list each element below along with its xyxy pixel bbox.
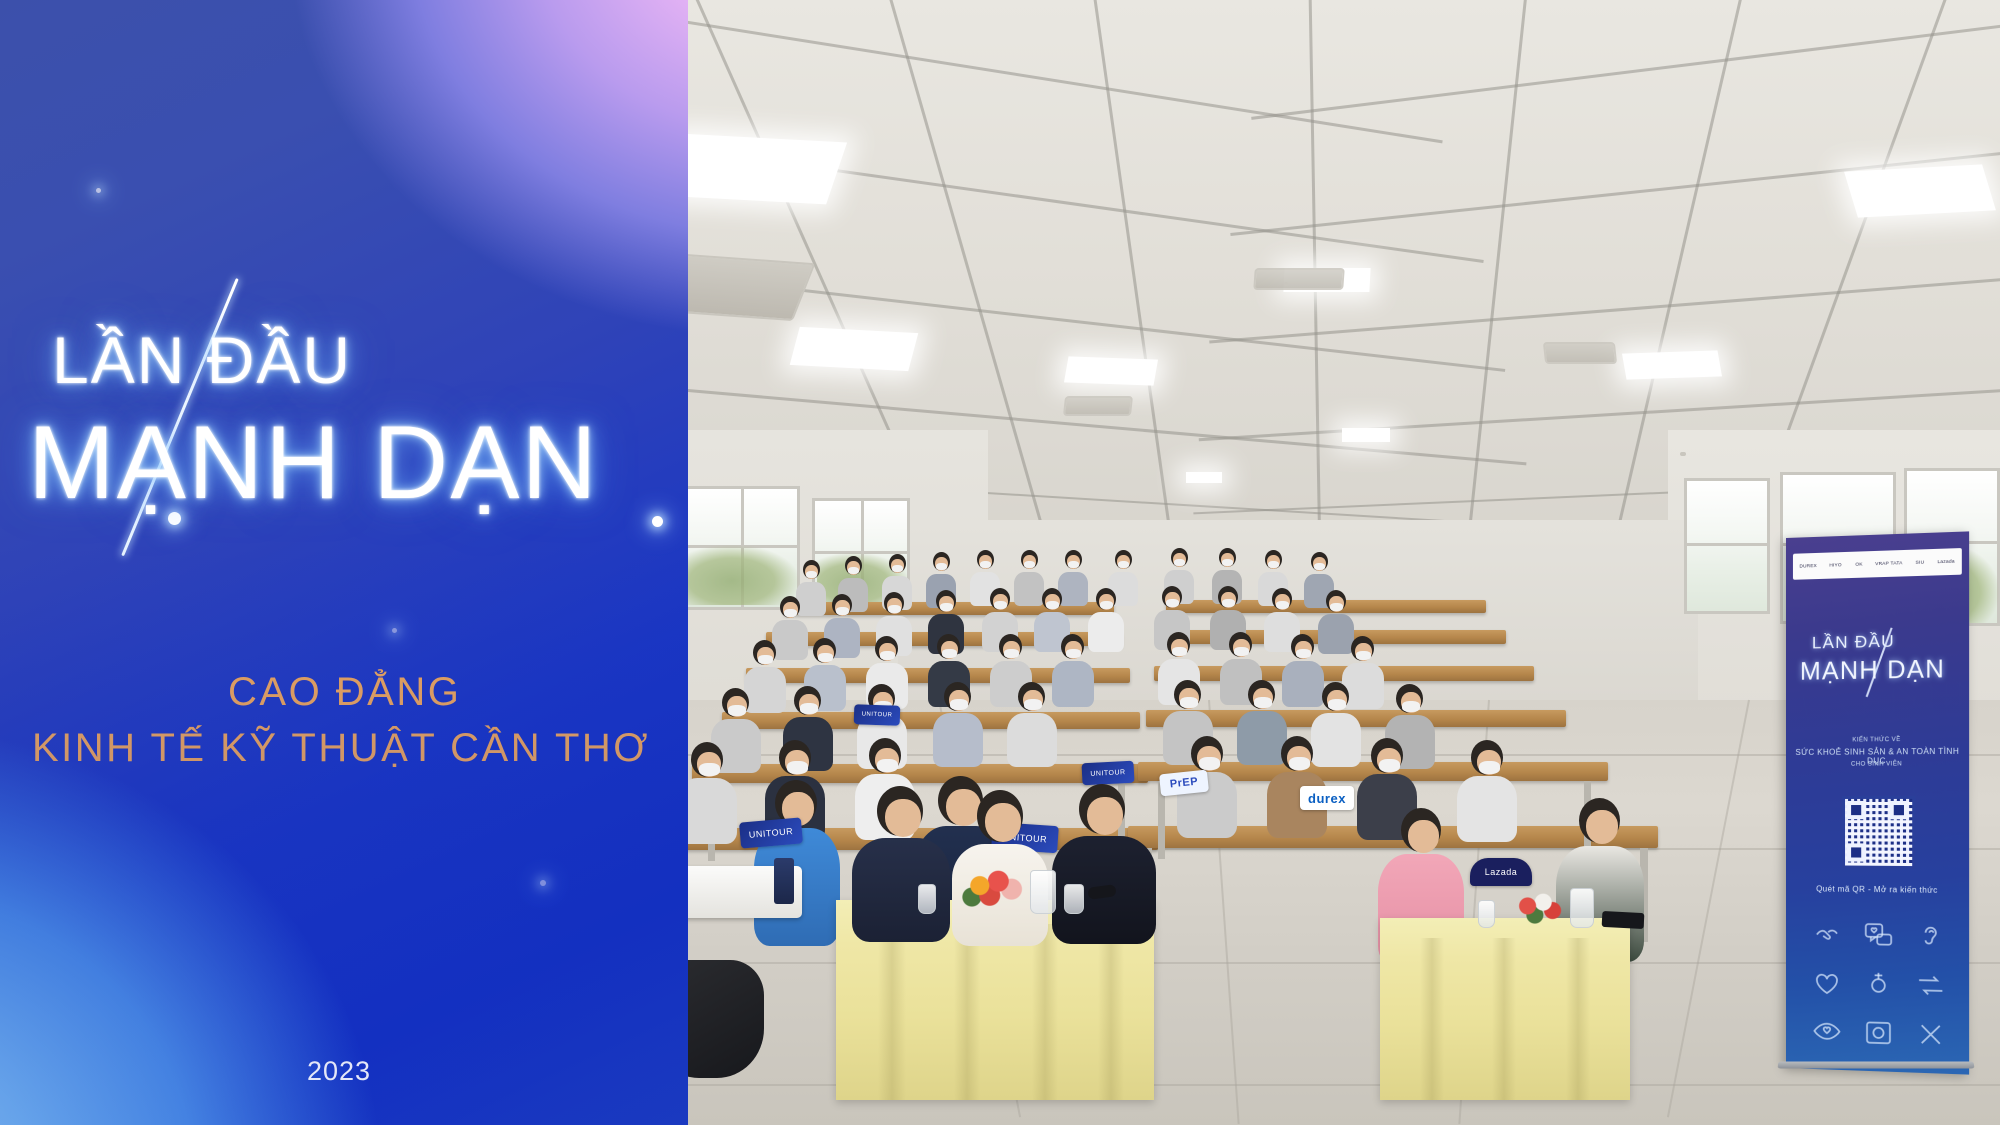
sponsor-logo-durex: DUREX xyxy=(1799,563,1817,569)
placard-label: UNITOUR xyxy=(748,826,793,840)
poster-canvas: LẦN ĐẦU MẠNH DẠN CAO ĐẲNG KINH TẾ KỸ THU… xyxy=(0,0,2000,1125)
ear-icon xyxy=(1906,914,1954,960)
standee-headline-2: MẠNH DẠN xyxy=(1800,655,1945,687)
sponsor-logo-hiyo: HIYO xyxy=(1830,562,1842,568)
placard-lazada: Lazada xyxy=(1470,858,1532,886)
ceiling-light-panel xyxy=(688,134,847,205)
standee-base xyxy=(1777,1062,1974,1069)
sparkle-dot xyxy=(540,880,546,886)
org-line-1: CAO ĐẲNG xyxy=(228,670,461,715)
chat-heart-icon xyxy=(1855,913,1903,958)
close-icon xyxy=(1906,1011,1954,1057)
flower-bouquet xyxy=(1512,890,1564,928)
ceiling-light-panel xyxy=(1186,472,1222,483)
placard-unitour: UNITOUR xyxy=(854,704,901,726)
placard-label: UNITOUR xyxy=(862,711,893,718)
heart-hand-icon xyxy=(1804,960,1851,1005)
sponsor-logo-lazada: Lazada xyxy=(1938,559,1955,565)
placard-label: Lazada xyxy=(1485,867,1518,877)
head-table-right xyxy=(1380,918,1630,1100)
glass-pitcher xyxy=(1570,888,1594,928)
qr-code xyxy=(1842,796,1915,869)
student-desk xyxy=(692,764,1148,783)
sponsor-logo-strip: DUREX HIYO OK VRAP TATA SIU Lazada xyxy=(1793,548,1962,580)
wall-louvre-vent xyxy=(1680,452,1686,456)
ceiling-light-panel xyxy=(790,327,919,371)
window xyxy=(1684,478,1770,614)
holding-hands-icon xyxy=(1804,912,1851,957)
standee-subline-3: CHO SINH VIÊN xyxy=(1786,761,1969,768)
placard-label: PrEP xyxy=(1169,776,1198,791)
sponsor-logo-siu: SIU xyxy=(1916,560,1925,566)
backpack xyxy=(688,960,764,1078)
sparkle-dot xyxy=(652,516,663,527)
glass-pitcher xyxy=(1030,870,1056,914)
drinking-glass xyxy=(1478,900,1495,928)
ceiling-air-vent xyxy=(1253,268,1345,290)
ceiling-light-panel xyxy=(1342,428,1390,442)
placard-label: UNITOUR xyxy=(1090,769,1126,778)
ceiling-light-panel xyxy=(1622,350,1722,379)
condom-icon xyxy=(1855,1010,1903,1056)
left-gradient-panel: LẦN ĐẦU MẠNH DẠN CAO ĐẲNG KINH TẾ KỸ THU… xyxy=(0,0,688,1125)
gender-symbol-icon xyxy=(1855,961,1903,1007)
drinking-glass xyxy=(1064,884,1084,914)
ceiling-air-vent xyxy=(1284,282,1288,286)
org-line-2: KINH TẾ KỸ THUẬT CẦN THƠ xyxy=(32,726,650,771)
event-photo: UNITOUR UNITOUR UNITOUR UNITOUR durex Pr… xyxy=(688,0,2000,1125)
sparkle-dot xyxy=(392,628,397,633)
rollup-banner-standee: DUREX HIYO OK VRAP TATA SIU Lazada LẦN Đ… xyxy=(1786,531,1969,1074)
water-bottle xyxy=(774,858,794,904)
sparkle-dot xyxy=(96,188,101,193)
flower-bouquet xyxy=(960,868,1026,912)
placard-durex: durex xyxy=(1300,786,1354,810)
standee-subline-1: KIẾN THỨC VỀ xyxy=(1786,736,1969,744)
eye-heart-icon xyxy=(1804,1009,1851,1055)
sponsor-logo-vrap: VRAP TATA xyxy=(1875,560,1902,567)
ceiling-air-vent xyxy=(688,253,816,321)
ceiling-air-vent xyxy=(1063,396,1133,416)
window xyxy=(688,486,800,610)
qr-caption: Quét mã QR - Mở ra kiến thức xyxy=(1786,884,1969,895)
headline-line-1: LẦN ĐẦU xyxy=(52,322,352,398)
ceiling-light-panel xyxy=(1064,356,1158,385)
placard-unitour: UNITOUR xyxy=(1081,761,1134,786)
sponsor-logo-ok: OK xyxy=(1855,562,1862,568)
placard-label: durex xyxy=(1308,791,1346,806)
drinking-glass xyxy=(918,884,936,914)
arrows-icon xyxy=(1906,963,1954,1009)
standee-icon-grid xyxy=(1804,912,1955,1057)
smartphone xyxy=(1602,911,1645,929)
placard-unitour: UNITOUR xyxy=(739,817,803,848)
ceiling-air-vent xyxy=(1543,342,1617,364)
headline-line-2: MẠNH DẠN xyxy=(28,404,599,523)
year-label: 2023 xyxy=(307,1056,371,1087)
ceiling-light-panel xyxy=(1844,164,1996,217)
